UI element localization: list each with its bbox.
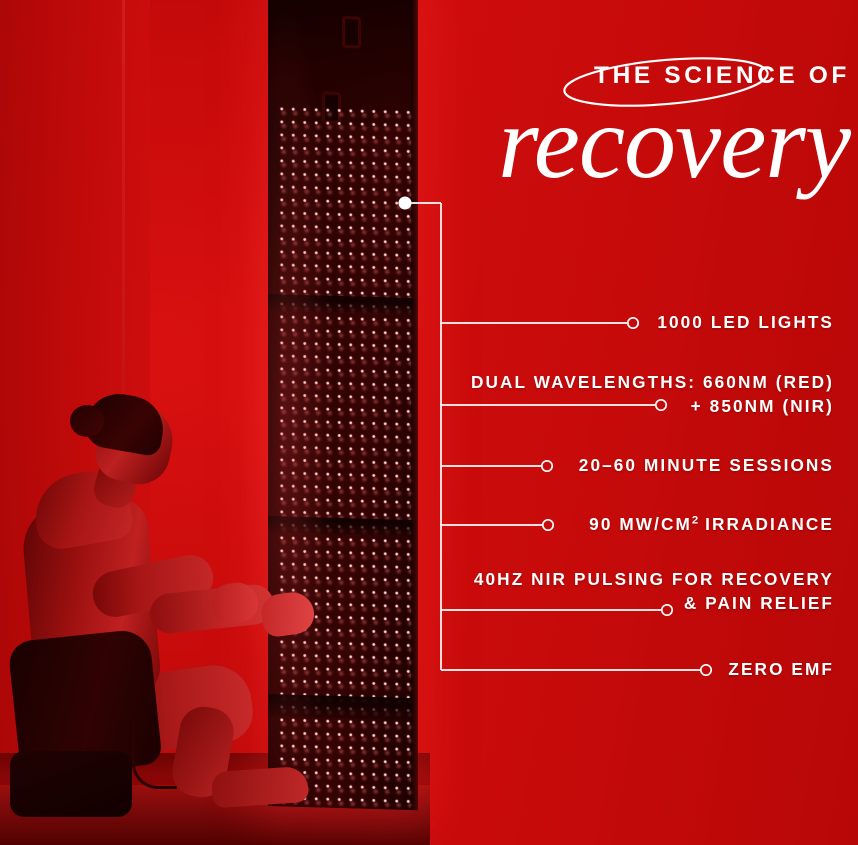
person-hair-bun bbox=[70, 405, 104, 437]
power-cord bbox=[132, 722, 177, 789]
person-hand-right bbox=[259, 590, 316, 639]
feature-item-emf: ZERO EMF bbox=[728, 657, 834, 681]
feature-item-session-time: 20–60 MINUTE SESSIONS bbox=[579, 453, 834, 477]
feature-item-led-count: 1000 LED LIGHTS bbox=[657, 310, 834, 334]
person-foot bbox=[211, 766, 309, 809]
panel-hook-icon bbox=[342, 16, 361, 49]
led-panel-edge bbox=[411, 0, 418, 810]
poster-root: THE SCIENCE OF recovery 1000 LED LIGHTS … bbox=[0, 0, 858, 845]
person-knee-pad bbox=[10, 751, 132, 817]
person-kneeling bbox=[0, 385, 330, 845]
feature-item-pulsing: 40HZ NIR PULSING FOR RECOVERY& PAIN RELI… bbox=[474, 567, 834, 616]
feature-list: 1000 LED LIGHTS DUAL WAVELENGTHS: 660NM … bbox=[440, 0, 858, 845]
feature-item-wavelengths: DUAL WAVELENGTHS: 660NM (RED)+ 850NM (NI… bbox=[471, 370, 834, 419]
feature-item-irradiance: 90 MW/CM2 IRRADIANCE bbox=[589, 512, 834, 536]
